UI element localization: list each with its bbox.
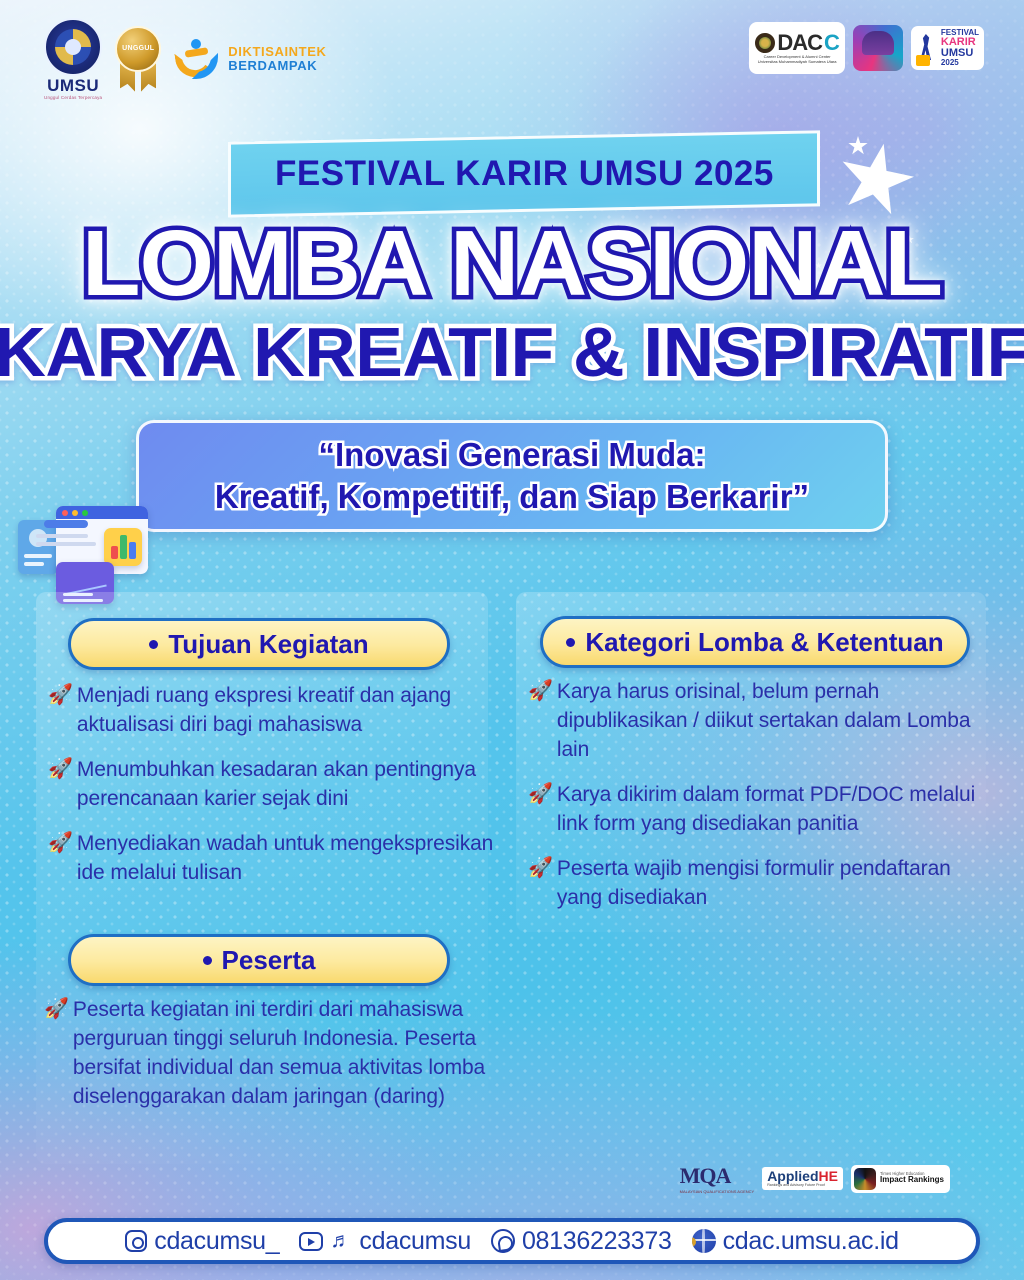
cdac-logo: DAC C Career Development & Alumni Center… [749,22,845,74]
fk-line4: 2025 [941,59,979,67]
window-dot-red-icon [62,510,68,516]
rocket-icon: 🚀 [44,996,69,1024]
rocket-icon: 🚀 [48,756,73,784]
impact-wordmark: Times Higher Education Impact Rankings [880,1172,944,1185]
website-icon[interactable] [692,1229,716,1253]
window-text-line-2 [36,542,96,546]
umsu-logo-tagline: Unggul Cerdas Terpercaya [44,95,102,100]
list-item-text: Peserta wajib mengisi formulir pendaftar… [557,855,998,913]
website-url: cdac.umsu.ac.id [723,1227,899,1256]
chart-bar-2 [120,535,127,559]
list-item-text: Karya harus orisinal, belum pernah dipub… [557,678,998,765]
diktisaintek-swoosh-icon [174,37,218,81]
youtube-tiktok-handle: cdacumsu [359,1227,471,1256]
appliedhe-logo: AppliedHE Rankings and Advisory Future P… [762,1167,843,1189]
unggul-ribbon-logo: UNGGUL [112,26,164,92]
cdac-wordmark: DAC C [755,32,839,54]
header-logos-right: DAC C Career Development & Alumni Center… [749,22,984,74]
footer-item-whatsapp[interactable]: 08136223373 [491,1227,672,1256]
rocket-icon: 🚀 [528,678,553,706]
section-heading-peserta: Peserta [68,934,450,986]
list-item: 🚀 Menumbuhkan kesadaran akan pentingnya … [48,756,518,814]
kategori-list: 🚀 Karya harus orisinal, belum pernah dip… [528,678,998,929]
whatsapp-number: 08136223373 [522,1227,672,1256]
rocket-icon: 🚀 [528,781,553,809]
window-text-line-1 [36,534,88,538]
browser-titlebar [56,506,148,519]
youtube-icon[interactable] [299,1232,323,1251]
umsu-logo: UMSU Unggul Cerdas Terpercaya [44,18,102,100]
bullet-dot-icon [149,640,158,649]
list-item: 🚀 Karya harus orisinal, belum pernah dip… [528,678,998,765]
bullet-dot-icon [566,638,575,647]
chart-bar-1 [111,546,118,559]
festival-banner: FESTIVAL KARIR UMSU 2025 [228,130,820,217]
footer-item-website[interactable]: cdac.umsu.ac.id [692,1227,899,1256]
festival-banner-text: FESTIVAL KARIR UMSU 2025 [275,154,774,194]
appliedhe-word-b: HE [819,1168,838,1184]
bar-chart-icon [104,528,142,566]
peserta-heading-text: Peserta [222,945,316,976]
diktisaintek-line2: BERDAMPAK [228,59,326,73]
unggul-label: UNGGUL [122,45,154,52]
diktisaintek-wordmark: DIKTISAINTEK BERDAMPAK [228,45,326,72]
list-item: 🚀 Peserta wajib mengisi formulir pendaft… [528,855,998,913]
rocket-icon: 🚀 [48,682,73,710]
page-title: LOMBA NASIONAL KARYA KREATIF & INSPIRATI… [0,218,1024,387]
cdac-word: DAC [777,32,822,54]
tagline-line-1: “Inovasi Generasi Muda: [319,434,706,476]
briefcase-icon [916,55,930,66]
rocket-icon: 🚀 [528,855,553,883]
footer-item-youtube-tiktok[interactable]: ♬ cdacumsu [299,1227,471,1256]
rocket-icon: 🚀 [48,830,73,858]
appliedhe-word-a: Applied [767,1168,818,1184]
list-item-text: Menumbuhkan kesadaran akan pentingnya pe… [77,756,518,814]
list-item: 🚀 Menyediakan wadah untuk mengekspresika… [48,830,518,888]
cdac-c-icon: C [824,32,839,54]
section-heading-kategori-lomba: Kategori Lomba & Ketentuan [540,616,970,668]
swoosh-blue-icon [192,53,218,79]
peserta-list: 🚀 Peserta kegiatan ini terdiri dari maha… [44,996,520,1128]
chart-bar-3 [129,542,136,559]
accreditation-logos: MQA MALAYSIAN QUALIFICATIONS AGENCY Appl… [680,1163,950,1194]
card-line-2 [24,562,44,566]
cdac-globe-icon [755,33,775,53]
ribbon-medal-icon: UNGGUL [115,26,161,72]
list-item-text: Peserta kegiatan ini terdiri dari mahasi… [73,996,520,1112]
window-dot-yellow-icon [72,510,78,516]
title-line-1: LOMBA NASIONAL [0,218,1024,308]
list-item: 🚀 Karya dikirim dalam format PDF/DOC mel… [528,781,998,839]
appliedhe-wordmark: AppliedHE [767,1169,838,1184]
mqa-word: MQA [680,1163,731,1188]
list-item: 🚀 Peserta kegiatan ini terdiri dari maha… [44,996,520,1112]
list-item: 🚀 Menjadi ruang ekspresi kreatif dan aja… [48,682,518,740]
list-item-text: Menjadi ruang ekspresi kreatif dan ajang… [77,682,518,740]
list-item-text: Menyediakan wadah untuk mengekspresikan … [77,830,518,888]
bullet-dot-icon [203,956,212,965]
dancing-figure-icon [916,30,938,66]
window-heading-bar [44,520,88,528]
sekolah-pitma-logo [853,25,903,71]
whatsapp-icon[interactable] [491,1229,515,1253]
tiktok-icon[interactable]: ♬ [330,1230,352,1252]
kategori-heading-text: Kategori Lomba & Ketentuan [585,627,943,658]
impact-rankings-logo: Times Higher Education Impact Rankings [851,1165,950,1193]
umsu-logo-word: UMSU [47,77,99,95]
list-item-text: Karya dikirim dalam format PDF/DOC melal… [557,781,998,839]
tagline-line-2: Kreatif, Kompetitif, dan Siap Berkarir” [215,476,809,518]
umsu-seal-icon [44,18,102,76]
impact-line-2: Impact Rankings [880,1176,944,1185]
mqa-logo: MQA MALAYSIAN QUALIFICATIONS AGENCY [680,1163,755,1194]
card-line-1 [24,554,52,558]
festival-karir-umsu-logo: FESTIVAL KARIR UMSU 2025 [911,26,984,70]
key-icon [692,1237,696,1247]
diktisaintek-line1: DIKTISAINTEK [228,45,326,59]
impact-swirl-icon [854,1168,876,1190]
footer-item-instagram[interactable]: cdacumsu_ [125,1227,279,1256]
window-dot-green-icon [82,510,88,516]
title-line-2: KARYA KREATIF & INSPIRATIF [0,317,1024,387]
appliedhe-sub: Rankings and Advisory Future Proof [767,1184,838,1188]
tagline-box: “Inovasi Generasi Muda: Kreatif, Kompeti… [136,420,888,532]
mqa-sub: MALAYSIAN QUALIFICATIONS AGENCY [680,1189,755,1194]
tujuan-list: 🚀 Menjadi ruang ekspresi kreatif dan aja… [48,682,518,904]
festival-karir-wordmark: FESTIVAL KARIR UMSU 2025 [941,29,979,67]
header-logos-left: UMSU Unggul Cerdas Terpercaya UNGGUL DIK… [44,18,326,100]
star-decoration-small-icon [848,136,868,156]
tujuan-heading-text: Tujuan Kegiatan [168,629,368,660]
poster-canvas: UMSU Unggul Cerdas Terpercaya UNGGUL DIK… [0,0,1024,1280]
instagram-icon[interactable] [125,1230,147,1252]
section-heading-tujuan-kegiatan: Tujuan Kegiatan [68,618,450,670]
profile-card-icon [18,520,58,574]
instagram-handle: cdacumsu_ [154,1227,279,1256]
contact-footer-bar: cdacumsu_ ♬ cdacumsu 08136223373 cdac.um… [44,1218,980,1264]
cdac-sub2: Universitas Muhammadiyah Sumatera Utara [755,59,839,64]
